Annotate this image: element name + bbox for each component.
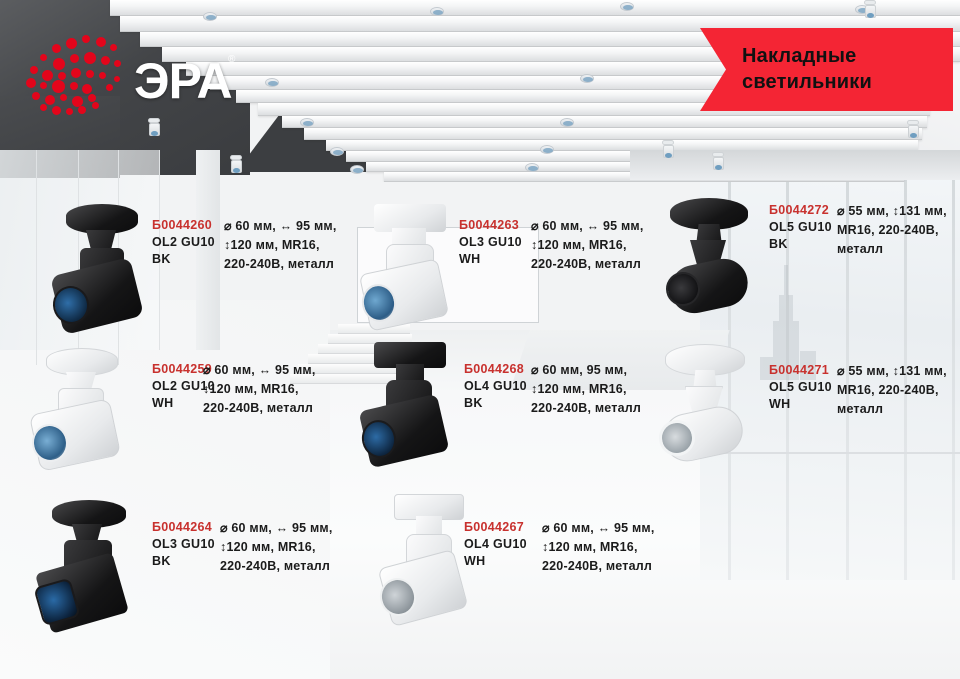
catalog-page: ЭРА ® Накладные светильники Б0044260 OL2… [0, 0, 960, 679]
ceiling-downlight-icon [330, 147, 344, 156]
scene-mini-spotlight [905, 120, 921, 140]
spec-line: металл [837, 400, 947, 419]
product-label-ol2-bk: Б0044260 OL2 GU10 BK [152, 217, 215, 268]
ceiling-downlight-icon [540, 145, 554, 154]
ceiling-downlight-icon [265, 78, 279, 87]
product-model: OL4 GU10 [464, 536, 527, 553]
spec-line: ⌀ 60 мм, ↔ 95 мм, [203, 361, 316, 380]
scene-mini-spotlight [710, 152, 726, 172]
product-finish: WH [459, 251, 522, 268]
spec-line: 220-240В, металл [531, 255, 644, 274]
product-label-ol4-bk: Б0044268 OL4 GU10 BK [464, 361, 527, 412]
spec-line: ⌀ 60 мм, ↔ 95 мм, [542, 519, 655, 538]
brand-logo: ЭРА ® [22, 32, 237, 120]
product-specs-ol2-bk: ⌀ 60 мм, ↔ 95 мм, ↕120 мм, MR16, 220-240… [224, 217, 337, 273]
product-code: Б0044271 [769, 362, 832, 379]
spec-line: ↕120 мм, MR16, [224, 236, 337, 255]
ceiling-downlight-icon [430, 7, 444, 16]
spec-line: ↕120 мм, MR16, [531, 380, 641, 399]
product-photo-ol5-bk [660, 198, 760, 330]
category-banner: Накладные светильники [700, 28, 953, 111]
product-specs-ol5-bk: ⌀ 55 мм, ↕131 мм, MR16, 220-240В, металл [837, 202, 947, 258]
product-code: Б0044267 [464, 519, 527, 536]
product-photo-ol3-wh [362, 204, 458, 330]
product-label-ol4-wh: Б0044267 OL4 GU10 WH [464, 519, 527, 570]
product-model: OL5 GU10 [769, 219, 832, 236]
spec-line: MR16, 220-240В, [837, 381, 947, 400]
ceiling-downlight-icon [350, 165, 364, 174]
ceiling-downlight-icon [580, 74, 594, 83]
product-specs-ol3-bk: ⌀ 60 мм, ↔ 95 мм, ↕120 мм, MR16, 220-240… [220, 519, 333, 575]
spec-line: ⌀ 55 мм, ↕131 мм, [837, 362, 947, 381]
product-label-ol5-wh: Б0044271 OL5 GU10 WH [769, 362, 832, 413]
brand-name: ЭРА [134, 52, 232, 110]
spec-line: ⌀ 55 мм, ↕131 мм, [837, 202, 947, 221]
spec-line: ⌀ 60 мм, ↔ 95 мм, [220, 519, 333, 538]
product-code: Б0044268 [464, 361, 527, 378]
spec-line: металл [837, 240, 947, 259]
scene-mini-spotlight [862, 0, 878, 20]
spec-line: 220-240В, металл [224, 255, 337, 274]
product-label-ol5-bk: Б0044272 OL5 GU10 BK [769, 202, 832, 253]
spec-line: MR16, 220-240В, [837, 221, 947, 240]
spec-line: 220-240В, металл [542, 557, 655, 576]
product-photo-ol2-wh [32, 348, 130, 470]
product-model: OL4 GU10 [464, 378, 527, 395]
product-finish: BK [464, 395, 527, 412]
product-label-ol3-bk: Б0044264 OL3 GU10 BK [152, 519, 215, 570]
ceiling-downlight-icon [203, 12, 217, 21]
spec-line: ⌀ 60 мм, ↔ 95 мм, [531, 217, 644, 236]
product-finish: BK [769, 236, 832, 253]
product-code: Б0044260 [152, 217, 215, 234]
spec-line: ↕120 мм, MR16, [542, 538, 655, 557]
ceiling-downlight-icon [300, 118, 314, 127]
ceiling-downlight-icon [560, 118, 574, 127]
product-model: OL5 GU10 [769, 379, 832, 396]
product-photo-ol4-bk [360, 342, 458, 470]
product-code: Б0044264 [152, 519, 215, 536]
scene-mini-spotlight [228, 155, 244, 175]
product-model: OL3 GU10 [459, 234, 522, 251]
era-eye-logo-icon [22, 32, 140, 120]
product-model: OL3 GU10 [152, 536, 215, 553]
registered-mark: ® [228, 54, 235, 65]
scene-mini-spotlight [146, 118, 162, 138]
spec-line: ↕120 мм, MR16, [203, 380, 316, 399]
product-photo-ol3-bk [36, 500, 136, 634]
product-specs-ol4-bk: ⌀ 60 мм, 95 мм, ↕120 мм, MR16, 220-240В,… [531, 361, 641, 417]
product-finish: BK [152, 553, 215, 570]
spec-line: 220-240В, металл [531, 399, 641, 418]
product-photo-ol2-bk [52, 204, 148, 330]
product-finish: BK [152, 251, 215, 268]
spec-line: ↕120 мм, MR16, [531, 236, 644, 255]
product-model: OL2 GU10 [152, 234, 215, 251]
product-specs-ol4-wh: ⌀ 60 мм, ↔ 95 мм, ↕120 мм, MR16, 220-240… [542, 519, 655, 575]
spec-line: ↕120 мм, MR16, [220, 538, 333, 557]
product-specs-ol3-wh: ⌀ 60 мм, ↔ 95 мм, ↕120 мм, MR16, 220-240… [531, 217, 644, 273]
product-finish: WH [769, 396, 832, 413]
product-specs-ol2-wh: ⌀ 60 мм, ↔ 95 мм, ↕120 мм, MR16, 220-240… [203, 361, 316, 417]
product-specs-ol5-wh: ⌀ 55 мм, ↕131 мм, MR16, 220-240В, металл [837, 362, 947, 418]
product-finish: WH [464, 553, 527, 570]
banner-line-1: Накладные [742, 44, 953, 69]
product-photo-ol4-wh [376, 494, 476, 632]
product-label-ol3-wh: Б0044263 OL3 GU10 WH [459, 217, 522, 268]
product-code: Б0044263 [459, 217, 522, 234]
spec-line: 220-240В, металл [203, 399, 316, 418]
product-code: Б0044272 [769, 202, 832, 219]
scene-mini-spotlight [660, 140, 676, 160]
spec-line: ⌀ 60 мм, 95 мм, [531, 361, 641, 380]
banner-line-2: светильники [742, 70, 953, 95]
ceiling-edge-shadow [630, 150, 960, 180]
ceiling-downlight-icon [620, 2, 634, 11]
ceiling-downlight-icon [525, 163, 539, 172]
spec-line: ⌀ 60 мм, ↔ 95 мм, [224, 217, 337, 236]
spec-line: 220-240В, металл [220, 557, 333, 576]
product-photo-ol5-wh [655, 344, 755, 478]
